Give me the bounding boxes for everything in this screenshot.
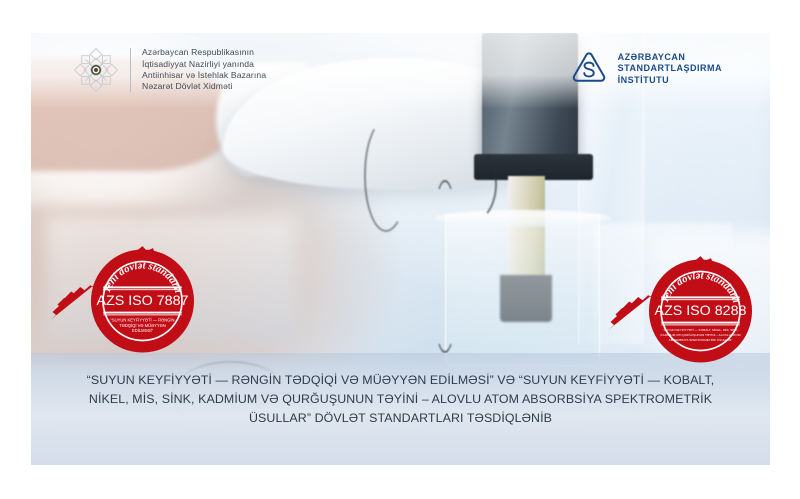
seal-subtitle-line-2: TƏDQİQİ VƏ MÜƏYYƏN	[119, 323, 166, 328]
standard-seal-8288: Yeni dövlət standartı AZS ISO 8288 “SUYU…	[629, 255, 770, 367]
seal-subtitle-line-1: “SUYUN KEYFİYYƏTİ — KOBALT, NİKEL, MİS, …	[663, 327, 739, 332]
seal-subtitle-line-2: KADMİUM VƏ QURĞUŞUNUN TƏYİNİ – ALOVLU AT…	[661, 332, 741, 337]
gov-service-name: Azərbaycan Respublikasının İqtisadiyyat …	[142, 47, 266, 93]
seal-badge-icon: Yeni dövlət standartı AZS ISO 8288 “SUYU…	[629, 255, 770, 367]
caption-line-2: NİKEL, MİS, SİNK, KADMİUM VƏ QURĞUŞUNUN …	[89, 390, 712, 409]
news-banner-image: Azərbaycan Respublikasının İqtisadiyyat …	[31, 33, 770, 465]
gov-line-4: Nəzarət Dövlət Xidməti	[142, 81, 266, 92]
screenshot-root: Azərbaycan Respublikasının İqtisadiyyat …	[0, 0, 800, 499]
banner-caption: “SUYUN KEYFİYYƏTİ — RƏNGİN TƏDQİQİ VƏ MÜ…	[31, 353, 770, 465]
logo-divider	[130, 48, 131, 92]
azstand-name: AZƏRBAYCAN STANDARTLAŞDIRMA İNSTİTUTU	[618, 52, 722, 87]
gov-line-1: Azərbaycan Respublikasının	[142, 47, 266, 58]
azstand-line-1: AZƏRBAYCAN	[618, 52, 722, 64]
caption-line-3: ÜSULLAR” DÖVLƏT STANDARTLARI TƏSDİQLƏNİB	[249, 409, 552, 428]
azstand-line-3: İNSTİTUTU	[618, 75, 722, 87]
azerbaijan-state-emblem-lattice-icon	[73, 47, 119, 93]
photo-cable	[364, 119, 408, 231]
caption-line-1: “SUYUN KEYFİYYƏTİ — RƏNGİN TƏDQİQİ VƏ MÜ…	[87, 371, 715, 390]
seal-code: AZS ISO 8288	[655, 303, 747, 319]
seal-subtitle-line-3: ABSORBSİYA SPEKTROMETRİK ÜSULLAR”	[669, 337, 733, 342]
gov-service-logo: Azərbaycan Respublikasının İqtisadiyyat …	[73, 47, 266, 93]
azstand-line-2: STANDARTLAŞDIRMA	[618, 63, 722, 75]
azstand-logo: AZƏRBAYCAN STANDARTLAŞDIRMA İNSTİTUTU	[570, 50, 722, 88]
photo-beaker-water	[445, 214, 600, 365]
photo-cable	[445, 145, 497, 223]
seal-code: AZS ISO 7887	[97, 293, 189, 309]
standard-seal-7887: Yeni dövlət standartı AZS ISO 7887 “SUYU…	[71, 245, 214, 357]
seal-subtitle-line-3: EDİLMƏSİ”	[132, 328, 154, 333]
gov-line-3: Antiinhisar və İstehlak Bazarına	[142, 70, 266, 81]
gov-line-2: İqtisadiyyat Nazirliyi yanında	[142, 59, 266, 70]
seal-badge-icon: Yeni dövlət standartı AZS ISO 7887 “SUYU…	[71, 245, 214, 357]
seal-subtitle-line-1: “SUYUN KEYFİYYƏTİ — RƏNGİN	[111, 318, 175, 323]
azstand-triangle-s-icon	[570, 50, 608, 88]
